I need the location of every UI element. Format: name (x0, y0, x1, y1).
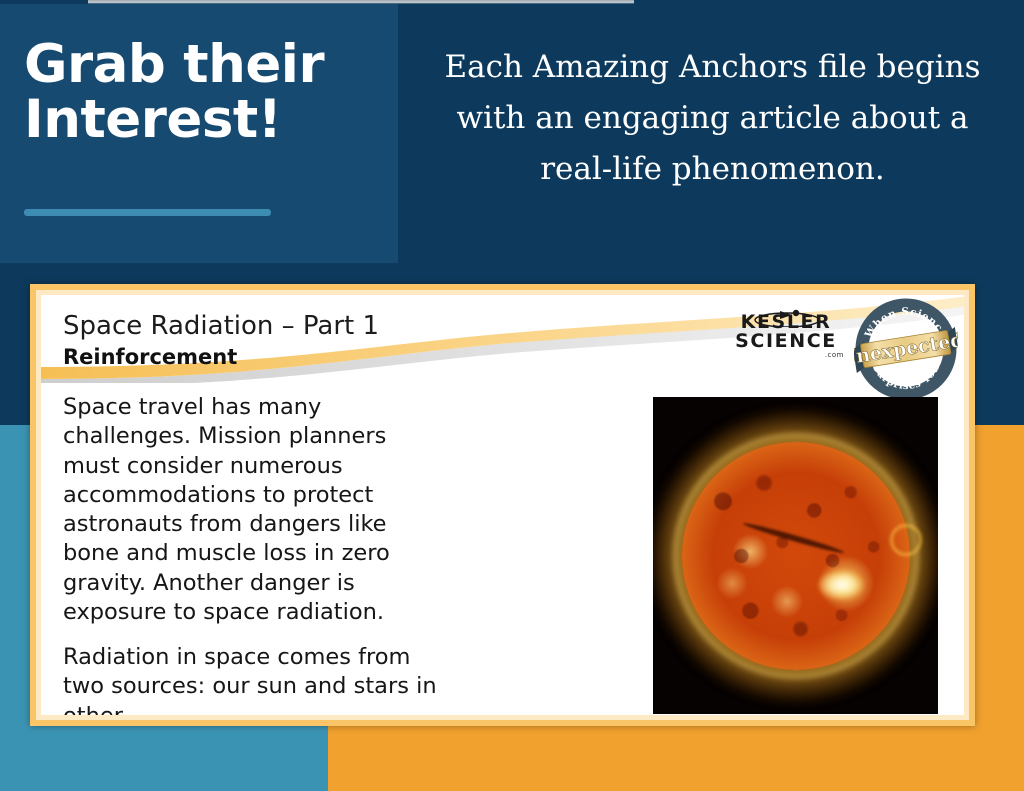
slide-canvas: Grab their Interest! Each Amazing Anchor… (0, 0, 1024, 791)
headline-underline-rule (24, 209, 271, 216)
intro-paragraph: Each Amazing Anchors file begins with an… (420, 42, 1005, 195)
worksheet-subtitle: Reinforcement (63, 345, 237, 369)
left-teal-accent-strip (0, 425, 30, 726)
sun-photograph (653, 397, 938, 714)
bottom-orange-band (328, 726, 1024, 791)
headline-block: Grab their Interest! (24, 38, 384, 147)
article-paragraph: Radiation in space comes from two source… (63, 643, 438, 715)
headline-text: Grab their Interest! (24, 38, 384, 147)
article-body: Space travel has many challenges. Missio… (63, 393, 438, 715)
article-paragraph: Space travel has many challenges. Missio… (63, 393, 438, 627)
solar-prominence-loop (890, 524, 922, 556)
unexpected-badge-icon: When Science Surprises You Unexpected! (854, 297, 958, 401)
bottom-teal-band (0, 726, 328, 791)
sun-limb-glow (674, 434, 918, 678)
logo-line-science: SCIENCE (726, 332, 846, 351)
worksheet-title: Space Radiation – Part 1 (63, 311, 379, 341)
atom-orbit-icon (744, 307, 830, 327)
worksheet-preview[interactable]: Space Radiation – Part 1 Reinforcement K… (30, 284, 975, 726)
kesler-science-logo: KESLER SCIENCE .com (726, 313, 846, 371)
worksheet-page: Space Radiation – Part 1 Reinforcement K… (41, 295, 964, 715)
worksheet-inner-border: Space Radiation – Part 1 Reinforcement K… (36, 290, 969, 720)
